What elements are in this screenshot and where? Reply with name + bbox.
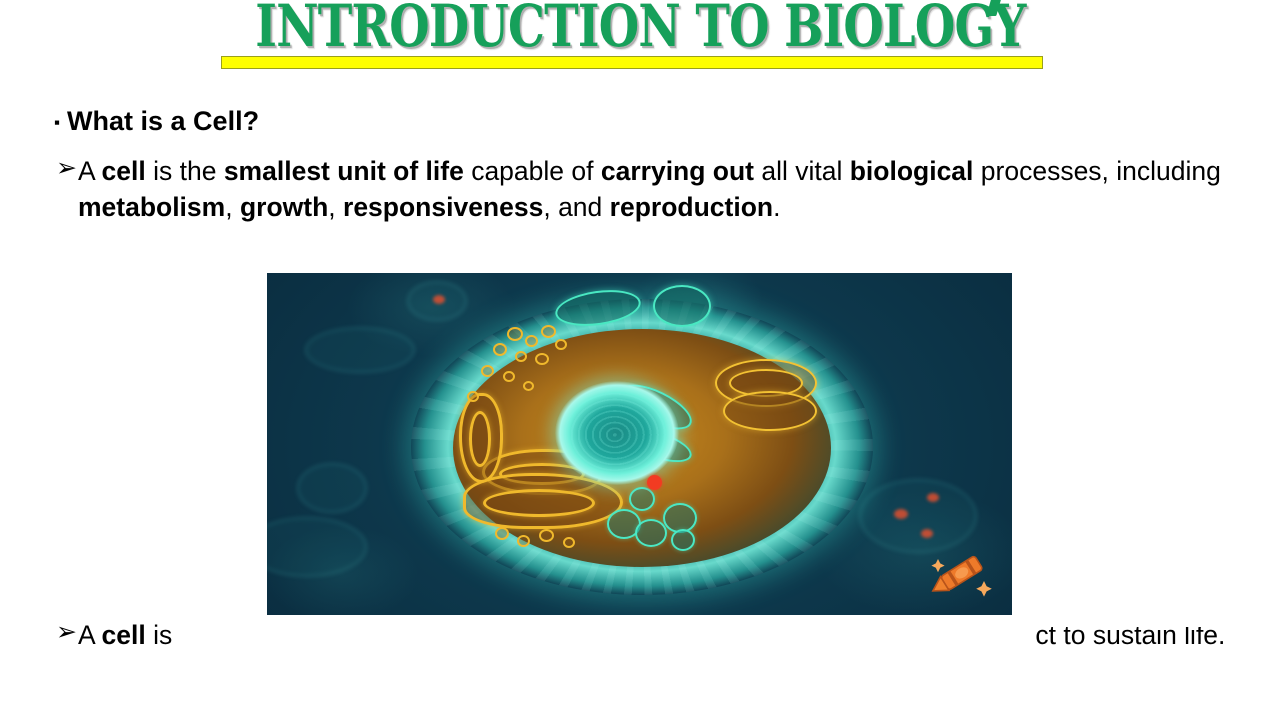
background-cell-nucleolus: [894, 509, 908, 519]
ribosome: [481, 365, 494, 377]
emphasized-term: responsiveness: [343, 192, 543, 222]
slide-canvas: INTRODUCTION TO BIOLOGY ▪ What is a Cell…: [0, 0, 1280, 720]
body-run: is the: [146, 156, 224, 186]
body-run: A: [78, 620, 102, 650]
body-run: ,: [225, 192, 240, 222]
background-cell-nucleolus: [927, 493, 939, 502]
emphasized-term: growth: [240, 192, 328, 222]
body-run: ,: [328, 192, 343, 222]
emphasized-term: reproduction: [610, 192, 773, 222]
cell-diagram-image: [267, 273, 1012, 615]
background-cell-blob: [305, 327, 415, 373]
endoplasmic-reticulum-lumen: [483, 489, 595, 517]
body-run: .: [773, 192, 780, 222]
transition-clip-mask: [185, 655, 1280, 671]
paragraph-one-text: A cell is the smallest unit of life capa…: [78, 153, 1224, 225]
mitochondrion: [653, 285, 711, 327]
ribosome: [515, 351, 527, 362]
ribosome: [507, 327, 523, 341]
page-title: INTRODUCTION TO BIOLOGY: [255, 0, 1025, 58]
ribosome: [503, 371, 515, 382]
body-run: processes, including: [973, 156, 1220, 186]
ribosome: [541, 325, 556, 338]
ribosome: [539, 529, 554, 542]
body-run: , and: [543, 192, 609, 222]
lysosome: [671, 529, 695, 551]
golgi-stack: [723, 391, 817, 431]
ribosome: [493, 343, 507, 356]
ribosome: [523, 381, 534, 391]
background-cell-blob: [297, 463, 367, 513]
heading-bullet-row: ▪ What is a Cell?: [54, 105, 259, 137]
emphasized-term: biological: [850, 156, 974, 186]
emphasized-term: cell: [102, 620, 146, 650]
body-run: capable of: [464, 156, 601, 186]
title-block: INTRODUCTION TO BIOLOGY: [0, 0, 1280, 58]
crayon-icon: [924, 547, 996, 601]
ribosome: [555, 339, 567, 350]
rough-er-lumen: [469, 411, 491, 467]
ribosome: [517, 535, 530, 547]
lysosome: [629, 487, 655, 511]
emphasized-term: carrying out: [601, 156, 754, 186]
background-cell-nucleolus: [433, 295, 445, 304]
body-run: A: [78, 156, 102, 186]
title-underline-bar: [221, 56, 1043, 69]
arrow-bullet-icon: ➢: [56, 619, 77, 644]
background-cell-blob: [859, 479, 977, 553]
emphasized-term: metabolism: [78, 192, 225, 222]
ribosome: [467, 391, 479, 402]
nucleus: [555, 381, 679, 485]
lysosome: [635, 519, 667, 547]
ribosome: [563, 537, 575, 548]
ribosome: [525, 335, 538, 347]
nucleus-texture: [561, 387, 673, 479]
arrow-bullet-icon: ➢: [56, 155, 77, 180]
emphasized-term: cell: [102, 156, 146, 186]
background-cell-nucleolus: [921, 529, 933, 538]
section-heading: What is a Cell?: [67, 105, 259, 137]
ribosome: [535, 353, 549, 365]
square-bullet-icon: ▪: [54, 114, 60, 131]
emphasized-term: smallest unit of life: [224, 156, 464, 186]
highlight-marker: [647, 475, 662, 490]
transition-clip-mask: [1036, 615, 1280, 627]
body-run: all vital: [754, 156, 850, 186]
transition-clip-mask: [176, 615, 1036, 655]
paragraph-one-row: ➢ A cell is the smallest unit of life ca…: [56, 153, 1236, 225]
ribosome: [495, 527, 509, 540]
